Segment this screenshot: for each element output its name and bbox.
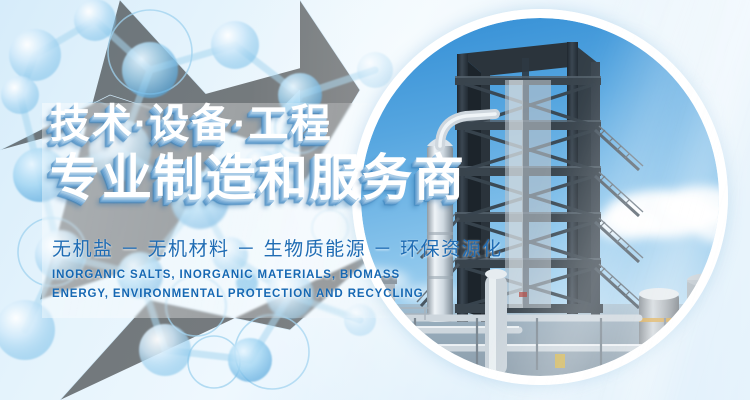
headline-line-2: 专业制造和服务商	[50, 152, 470, 204]
headline-line-1: 技术·设备·工程	[50, 104, 470, 146]
promotional-banner: 技术·设备·工程 专业制造和服务商 无机盐 － 无机材料 － 生物质能源 － 环…	[0, 0, 750, 400]
subtitle-english: INORGANIC SALTS, INORGANIC MATERIALS, BI…	[52, 266, 452, 304]
headline-group: 技术·设备·工程 专业制造和服务商	[50, 104, 470, 204]
subtitle-chinese: 无机盐 － 无机材料 － 生物质能源 － 环保资源化	[52, 234, 503, 261]
